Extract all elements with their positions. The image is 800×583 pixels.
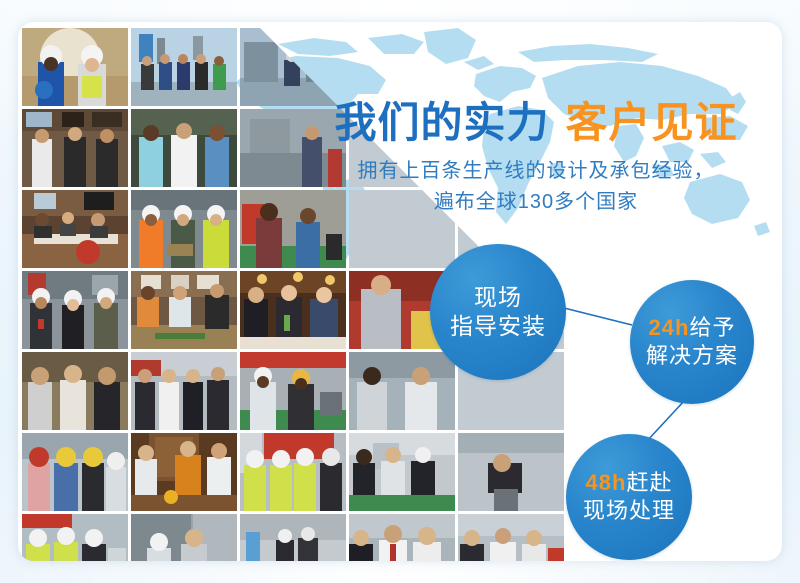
bubble-onsite-line-2: 指导安装: [450, 312, 546, 341]
photo-cell: [22, 271, 128, 349]
photo-cell: [240, 514, 346, 561]
bubble-48h-highlight: 48h: [586, 470, 627, 495]
photo-group-workers-at-plant-site: [131, 28, 237, 106]
photo-cell: [131, 190, 237, 268]
photo-team-hard-hats-in-factory: [22, 271, 128, 349]
photo-cell: [131, 433, 237, 511]
photo-cell: [131, 109, 237, 187]
photo-cell: [458, 514, 564, 561]
photo-three-men-hard-hats-handing-sample: [131, 190, 237, 268]
headline-accent: 客户见证: [566, 99, 738, 146]
banner-card: 我们的实力客户见证 拥有上百条生产线的设计及承包经验， 遍布全球130多个国家 …: [18, 22, 782, 561]
page-subtitle: 拥有上百条生产线的设计及承包经验， 遍布全球130多个国家: [286, 156, 782, 218]
photo-cell: [22, 433, 128, 511]
photo-vip-vest-team-discussion: [22, 514, 128, 561]
photo-two-engineers-hard-hats-blue-coverall: [22, 28, 128, 106]
photo-cell: [22, 352, 128, 430]
photo-delegation-group-outdoor: [131, 352, 237, 430]
bubble-48h-line-1: 48h赶赴: [586, 469, 673, 497]
photo-two-visitors-outside-steel-shed: [131, 514, 237, 561]
photo-three-clients-in-workshop: [349, 514, 455, 561]
photo-cell: [349, 28, 455, 106]
photo-cell: [131, 28, 237, 106]
photo-cell: [240, 28, 346, 106]
photo-cell: [22, 514, 128, 561]
photo-inspection-tour-in-plant: [349, 433, 455, 511]
photo-cell: [349, 352, 455, 430]
bubble-48h-line-1-rest: 赶赴: [626, 470, 672, 495]
photo-three-men-group-photo-lobby: [131, 109, 237, 187]
bubble-24h-line-1: 24h给予: [649, 314, 736, 342]
page-title: 我们的实力客户见证: [286, 102, 782, 144]
photo-worker-demonstrating-equipment: [240, 352, 346, 430]
photo-cell: [240, 271, 346, 349]
photo-workers-red-yellow-helmets: [22, 433, 128, 511]
headline-primary: 我们的实力: [334, 99, 549, 146]
photo-cell: [131, 271, 237, 349]
bubble-24h-line-2: 解决方案: [646, 342, 738, 370]
photo-cell: [22, 190, 128, 268]
photo-three-men-outdoor-portrait: [22, 352, 128, 430]
photo-vip-vest-crew-at-machine: [240, 433, 346, 511]
photo-handshake-across-meeting-table: [131, 271, 237, 349]
photo-visitor-bending-over-machine: [458, 433, 564, 511]
photo-cell: [349, 433, 455, 511]
photo-three-men-handshake-in-office: [22, 109, 128, 187]
photo-cell: [131, 514, 237, 561]
connector-24h-to-48h: [646, 400, 685, 442]
bubble-24h-solution[interactable]: 24h给予 解决方案: [630, 280, 754, 404]
bubble-48h-line-2: 现场处理: [583, 497, 675, 525]
photo-two-men-outside-workshop: [349, 352, 455, 430]
photo-conference-room-meeting: [22, 190, 128, 268]
photo-cell: [240, 433, 346, 511]
photo-filler: [458, 28, 564, 106]
photo-cell: [22, 28, 128, 106]
subtitle-line-1: 拥有上百条生产线的设计及承包经验，: [286, 156, 782, 187]
photo-clients-at-banquet-dinner: [240, 271, 346, 349]
bubble-onsite-line-1: 现场: [474, 283, 522, 312]
bubble-48h-onsite[interactable]: 48h赶赴 现场处理: [566, 434, 692, 560]
photo-cell: [349, 514, 455, 561]
photo-cell: [22, 109, 128, 187]
photo-team-portrait-in-factory: [458, 514, 564, 561]
bubble-24h-line-1-rest: 给予: [689, 315, 735, 340]
bubble-onsite-guidance[interactable]: 现场 指导安装: [430, 244, 566, 380]
photo-cell: [131, 352, 237, 430]
photo-site-equipment-crew: [240, 28, 346, 106]
photo-cell: [458, 433, 564, 511]
promo-banner: 我们的实力客户见证 拥有上百条生产线的设计及承包经验， 遍布全球130多个国家 …: [0, 0, 800, 583]
photo-filler: [349, 28, 455, 106]
subtitle-line-2: 遍布全球130多个国家: [286, 187, 782, 218]
photo-handshake-in-wood-panel-room: [131, 433, 237, 511]
photo-cell: [240, 352, 346, 430]
photo-engineers-at-silo-tank: [240, 514, 346, 561]
bubble-24h-highlight: 24h: [649, 315, 690, 340]
photo-cell: [458, 28, 564, 106]
